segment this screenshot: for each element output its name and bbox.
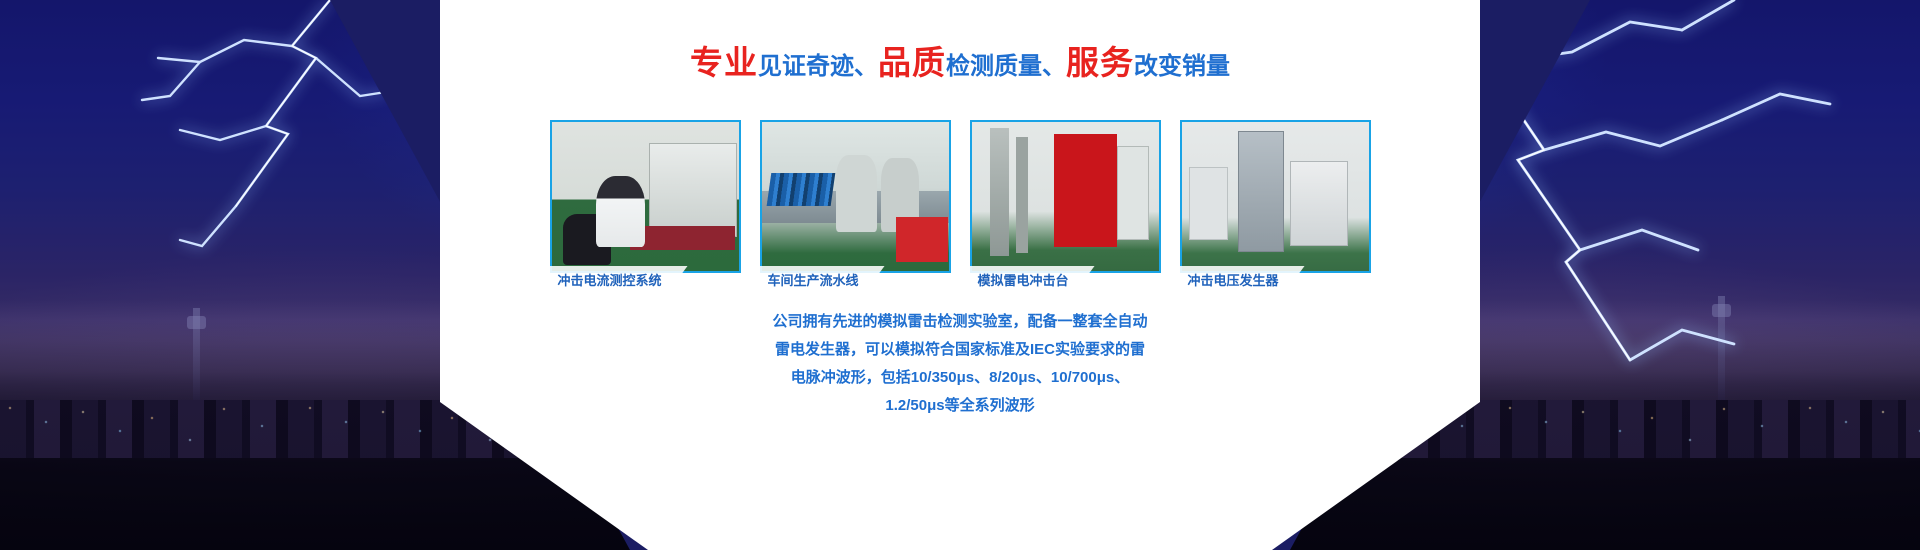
paragraph-line: 1.2/50μs等全系列波形 bbox=[0, 392, 1920, 420]
workshop-production-line-photo bbox=[762, 122, 949, 271]
headline-segment-3: 品质 bbox=[878, 44, 946, 81]
headline-segment-6: 改变销量 bbox=[1134, 53, 1230, 80]
headline: 专业见证奇迹、品质检测质量、服务改变销量 bbox=[0, 46, 1920, 79]
photo-card[interactable]: 模拟雷电冲击台 bbox=[970, 120, 1161, 273]
photo-card-caption: 冲击电压发生器 bbox=[1176, 266, 1305, 293]
headline-segment-4: 检测质量、 bbox=[946, 53, 1066, 80]
photo-card-row: 冲击电流测控系统 车间生产流水线 模拟雷电冲击台 冲击电压发生器 bbox=[0, 120, 1920, 335]
paragraph-line: 公司拥有先进的模拟雷击检测实验室，配备一整套全自动 bbox=[0, 308, 1920, 336]
photo-card[interactable]: 冲击电压发生器 bbox=[1180, 120, 1371, 273]
headline-segment-2: 见证奇迹、 bbox=[758, 53, 878, 80]
simulated-lightning-impulse-bench-photo bbox=[972, 122, 1159, 271]
photo-card[interactable]: 车间生产流水线 bbox=[760, 120, 951, 273]
headline-segment-1: 专业 bbox=[690, 44, 758, 81]
photo-card-caption: 车间生产流水线 bbox=[756, 266, 885, 293]
photo-card-caption: 模拟雷电冲击台 bbox=[966, 266, 1095, 293]
headline-segment-5: 服务 bbox=[1066, 44, 1134, 81]
photo-card[interactable]: 冲击电流测控系统 bbox=[550, 120, 741, 273]
promo-banner: 专业见证奇迹、品质检测质量、服务改变销量 冲击电流测控系统 车间生产流水线 模拟… bbox=[0, 0, 1920, 550]
impulse-current-control-system-photo bbox=[552, 122, 739, 271]
impulse-voltage-generator-photo bbox=[1182, 122, 1369, 271]
description-paragraph: 公司拥有先进的模拟雷击检测实验室，配备一整套全自动 雷电发生器，可以模拟符合国家… bbox=[0, 308, 1920, 420]
photo-card-caption: 冲击电流测控系统 bbox=[546, 266, 688, 293]
paragraph-line: 雷电发生器，可以模拟符合国家标准及IEC实验要求的雷 bbox=[0, 336, 1920, 364]
paragraph-line: 电脉冲波形，包括10/350μs、8/20μs、10/700μs、 bbox=[0, 364, 1920, 392]
